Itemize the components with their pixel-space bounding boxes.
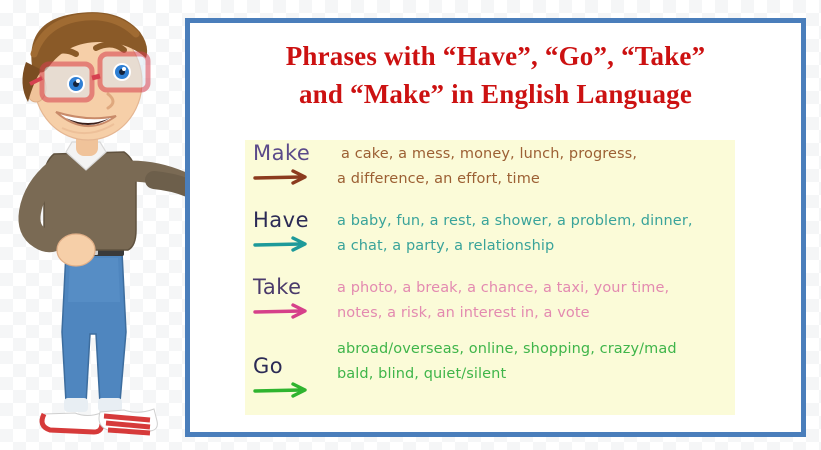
verb-cell-take: Take: [253, 274, 331, 320]
arrow-icon-have: [253, 235, 315, 253]
title-line-1: Phrases with “Have”, “Go”, “Take”: [208, 37, 783, 75]
phrase-chart-panel: Make a cake, a mess, money, lunch, progr…: [245, 140, 735, 415]
phrase-line: a photo, a break, a chance, a taxi, your…: [337, 276, 733, 301]
slide-card: Phrases with “Have”, “Go”, “Take” and “M…: [185, 18, 806, 437]
phrase-row-have: Have a baby, fun, a rest, a shower, a pr…: [245, 207, 735, 274]
verb-cell-have: Have: [253, 207, 331, 253]
phrase-line: a cake, a mess, money, lunch, progress,: [341, 142, 733, 167]
phrase-row-make: Make a cake, a mess, money, lunch, progr…: [245, 140, 735, 207]
verb-cell-go: Go: [253, 353, 331, 399]
verb-label-go: Go: [253, 353, 331, 379]
phrase-line: notes, a risk, an interest in, a vote: [337, 301, 733, 326]
phrase-text-have: a baby, fun, a rest, a shower, a problem…: [337, 209, 733, 259]
phrase-line: a chat, a party, a relationship: [337, 234, 733, 259]
verb-cell-make: Make: [253, 140, 331, 186]
verb-label-take: Take: [253, 274, 331, 300]
phrase-text-take: a photo, a break, a chance, a taxi, your…: [337, 276, 733, 326]
phrase-row-go: Go abroad/overseas, online, shopping, cr…: [245, 341, 735, 408]
phrase-row-take: Take a photo, a break, a chance, a taxi,…: [245, 274, 735, 341]
verb-label-make: Make: [253, 140, 331, 166]
cartoon-boy-illustration: [4, 2, 189, 448]
arrow-icon-take: [253, 302, 315, 320]
phrase-line: a baby, fun, a rest, a shower, a problem…: [337, 209, 733, 234]
phrase-line: bald, blind, quiet/silent: [337, 362, 733, 387]
arrow-icon-make: [253, 168, 315, 186]
phrase-line: abroad/overseas, online, shopping, crazy…: [337, 337, 733, 362]
phrase-text-make: a cake, a mess, money, lunch, progress, …: [337, 142, 733, 192]
page-title: Phrases with “Have”, “Go”, “Take” and “M…: [190, 23, 801, 114]
title-line-2: and “Make” in English Language: [208, 75, 783, 113]
phrase-text-go: abroad/overseas, online, shopping, crazy…: [337, 337, 733, 387]
arrow-icon-go: [253, 381, 315, 399]
verb-label-have: Have: [253, 207, 331, 233]
phrase-line: a difference, an effort, time: [337, 167, 733, 192]
